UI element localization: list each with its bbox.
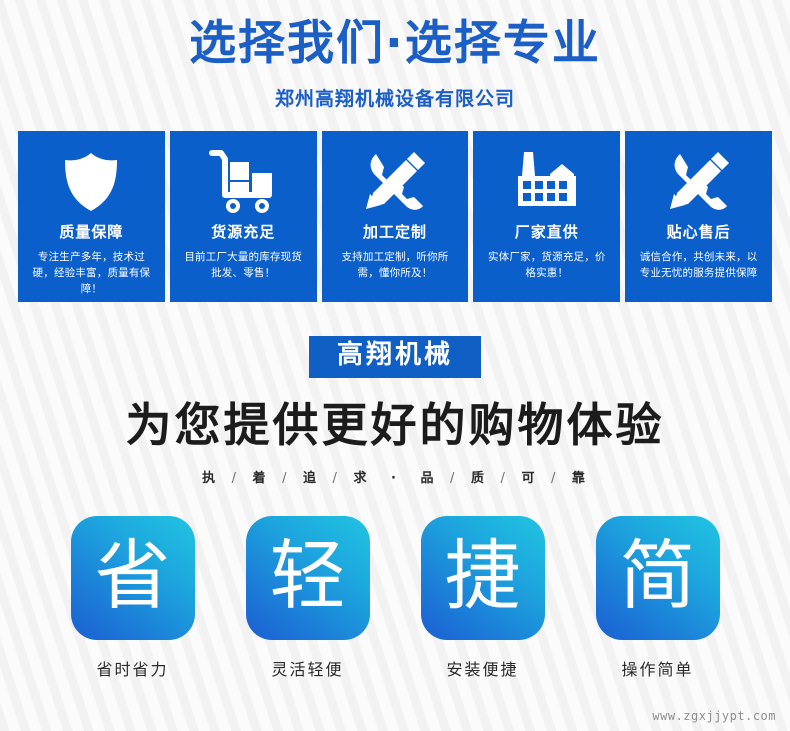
brand-badge: 高翔机械 bbox=[309, 336, 481, 378]
hand-truck-icon bbox=[208, 145, 278, 219]
slogan-separator: / bbox=[444, 471, 463, 486]
slogan-word: 追 bbox=[303, 471, 319, 486]
page-title: 选择我们·选择专业 bbox=[0, 18, 790, 70]
benefit-tile-quick[interactable]: 捷 安装便捷 bbox=[409, 516, 556, 680]
feature-card-factory[interactable]: 厂家直供 实体厂家，货源充足，价格实惠！ bbox=[473, 131, 620, 302]
wrench-pencil-icon bbox=[666, 145, 732, 219]
benefit-tile-list: 省 省时省力 轻 灵活轻便 捷 安装便捷 简 操作简单 bbox=[0, 516, 790, 680]
feature-card-desc: 实体厂家，货源充足，价格实惠！ bbox=[473, 249, 620, 282]
slogan-word: 可 bbox=[521, 471, 537, 486]
feature-card-desc: 目前工厂大量的库存现货批发、零售！ bbox=[170, 249, 317, 282]
wrench-pencil-icon bbox=[362, 145, 428, 219]
slogan-line: 执 / 着 / 追 / 求 · 品 / 质 / 可 / 靠 bbox=[0, 467, 790, 486]
slogan-separator: / bbox=[545, 471, 564, 486]
feature-card-aftersales[interactable]: 贴心售后 诚信合作，共创未来，以专业无忧的服务提供保障 bbox=[625, 131, 772, 302]
slogan-separator: / bbox=[226, 471, 245, 486]
benefit-tile-char: 捷 bbox=[445, 538, 521, 614]
feature-card-title: 贴心售后 bbox=[667, 221, 731, 242]
benefit-tile-label: 灵活轻便 bbox=[234, 656, 381, 680]
benefit-tile-label: 省时省力 bbox=[59, 656, 206, 680]
slogan-separator: / bbox=[276, 471, 295, 486]
feature-card-title: 厂家直供 bbox=[515, 221, 579, 242]
benefit-tile-char: 轻 bbox=[270, 538, 346, 614]
benefit-tile-box: 省 bbox=[71, 516, 195, 640]
feature-card-title: 货源充足 bbox=[211, 221, 275, 242]
feature-card-list: 质量保障 专注生产多年，技术过硬，经验丰富，质量有保障！ 货源充足 目前工厂大量… bbox=[0, 131, 790, 302]
benefit-tile-light[interactable]: 轻 灵活轻便 bbox=[234, 516, 381, 680]
feature-card-title: 加工定制 bbox=[363, 221, 427, 242]
slogan-word: 求 bbox=[353, 471, 369, 486]
benefit-tile-char: 简 bbox=[620, 538, 696, 614]
slogan-word: 质 bbox=[471, 471, 487, 486]
shield-icon bbox=[61, 145, 121, 219]
feature-card-quality[interactable]: 质量保障 专注生产多年，技术过硬，经验丰富，质量有保障！ bbox=[18, 131, 165, 302]
company-name: 郑州高翔机械设备有限公司 bbox=[0, 84, 790, 111]
header: 选择我们·选择专业 郑州高翔机械设备有限公司 bbox=[0, 0, 790, 111]
feature-card-desc: 专注生产多年，技术过硬，经验丰富，质量有保障！ bbox=[18, 249, 165, 298]
slogan-separator: / bbox=[327, 471, 346, 486]
benefit-tile-label: 安装便捷 bbox=[409, 656, 556, 680]
factory-icon bbox=[512, 145, 582, 219]
promo-banner: 选择我们·选择专业 郑州高翔机械设备有限公司 质量保障 专注生产多年，技术过硬，… bbox=[0, 0, 790, 731]
benefit-tile-box: 轻 bbox=[246, 516, 370, 640]
feature-card-custom[interactable]: 加工定制 支持加工定制，听你所需，懂你所及！ bbox=[322, 131, 469, 302]
benefit-tile-saving[interactable]: 省 省时省力 bbox=[59, 516, 206, 680]
feature-card-title: 质量保障 bbox=[59, 221, 123, 242]
feature-card-stock[interactable]: 货源充足 目前工厂大量的库存现货批发、零售！ bbox=[170, 131, 317, 302]
slogan-word: 执 bbox=[202, 471, 218, 486]
benefit-tile-box: 简 bbox=[596, 516, 720, 640]
middle-section: 高翔机械 为您提供更好的购物体验 执 / 着 / 追 / 求 · 品 / 质 /… bbox=[0, 336, 790, 486]
slogan-separator: / bbox=[495, 471, 514, 486]
benefit-tile-box: 捷 bbox=[421, 516, 545, 640]
slogan-word: 靠 bbox=[572, 471, 588, 486]
benefit-tile-simple[interactable]: 简 操作简单 bbox=[584, 516, 731, 680]
slogan-word: 品 bbox=[421, 471, 437, 486]
slogan-word: 着 bbox=[253, 471, 269, 486]
benefit-tile-char: 省 bbox=[95, 538, 171, 614]
feature-card-desc: 支持加工定制，听你所需，懂你所及！ bbox=[322, 249, 469, 282]
slogan-middle-dot: · bbox=[377, 471, 413, 486]
headline: 为您提供更好的购物体验 bbox=[0, 400, 790, 452]
feature-card-desc: 诚信合作，共创未来，以专业无忧的服务提供保障 bbox=[625, 249, 772, 282]
benefit-tile-label: 操作简单 bbox=[584, 656, 731, 680]
site-watermark: www.zgxjjypt.com bbox=[652, 709, 776, 723]
